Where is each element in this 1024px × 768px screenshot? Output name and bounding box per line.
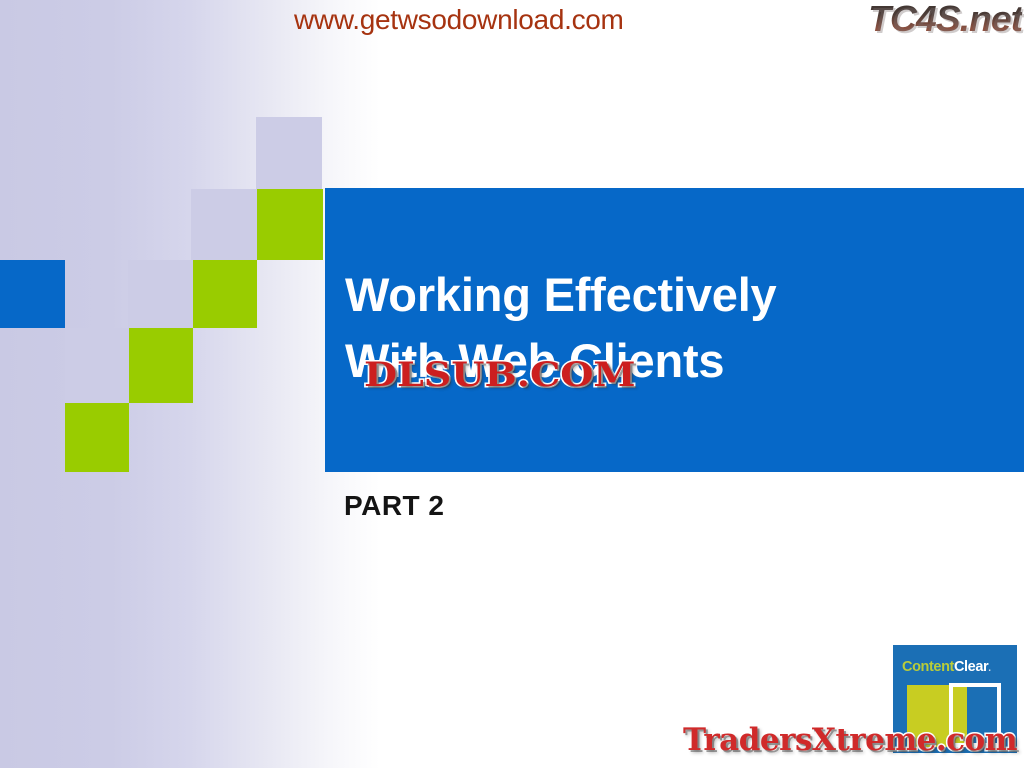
mosaic-square-green-row2-right: [257, 189, 323, 260]
mosaic-square-blue-left-edge: [0, 260, 65, 328]
logo-word-period: .: [988, 663, 990, 674]
site-url-text: www.getwsodownload.com: [294, 4, 624, 36]
mosaic-square-green-row4-right: [129, 328, 193, 403]
tradersxtreme-watermark: TradersXtreme.com: [683, 722, 1017, 758]
mosaic-square-lavender-top-peak: [256, 117, 322, 189]
tc4s-wordmark: TC4S.net: [868, 0, 1022, 40]
contentclear-logo-text: ContentClear.: [902, 659, 991, 675]
mosaic-square-lavender-row2-left: [191, 189, 257, 260]
mosaic-square-lavender-row4-mid: [65, 328, 129, 403]
logo-word-content: Content: [902, 659, 954, 675]
logo-word-clear: Clear: [954, 659, 988, 675]
mosaic-square-lavender-row3-mid: [128, 260, 193, 328]
mosaic-square-green-row3-right: [193, 260, 257, 328]
part-label: PART 2: [344, 490, 445, 522]
dlsub-watermark: DLSUB.COM: [364, 355, 636, 395]
presentation-slide: Working Effectively With Web Clients PAR…: [0, 0, 1024, 768]
mosaic-square-green-row5-left: [65, 403, 129, 472]
